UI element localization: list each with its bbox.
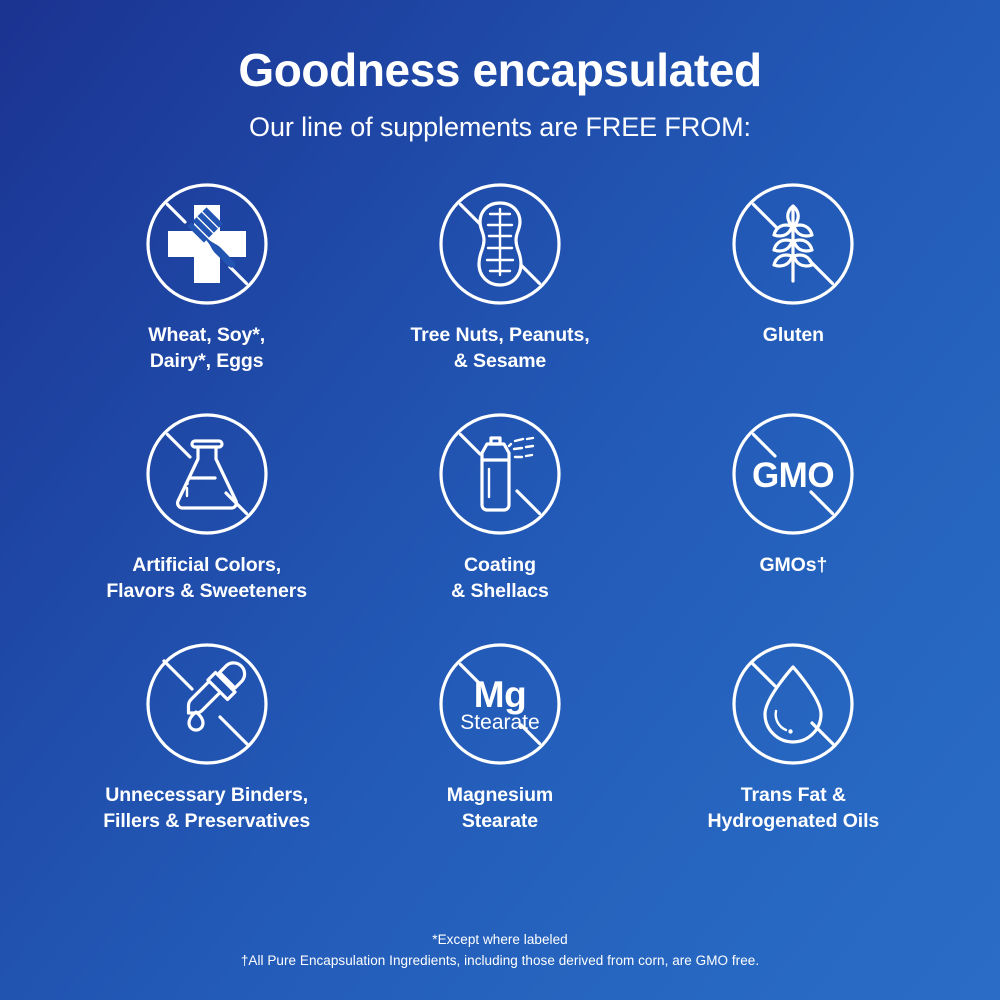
no-flask-icon xyxy=(142,409,272,539)
badge-label: Tree Nuts, Peanuts, & Sesame xyxy=(410,322,589,375)
no-dropper-icon xyxy=(142,639,272,769)
badge-label: Gluten xyxy=(763,322,824,348)
mg-icon-text: Mg xyxy=(474,674,526,715)
badge-label: Wheat, Soy*, Dairy*, Eggs xyxy=(148,322,265,375)
page-title: Goodness encapsulated xyxy=(238,46,761,96)
badge-gluten: Gluten xyxy=(658,179,928,409)
no-oil-droplet-icon xyxy=(728,639,858,769)
badge-label: GMOs† xyxy=(759,552,827,578)
stearate-icon-text: Stearate xyxy=(460,711,539,734)
badge-trans-fat: Trans Fat & Hydrogenated Oils xyxy=(658,639,928,869)
footnote-dagger: †All Pure Encapsulation Ingredients, inc… xyxy=(0,951,1000,972)
badge-label: Trans Fat & Hydrogenated Oils xyxy=(707,782,879,835)
badge-label: Unnecessary Binders, Fillers & Preservat… xyxy=(103,782,310,835)
no-peanut-icon xyxy=(435,179,565,309)
badge-label: Artificial Colors, Flavors & Sweeteners xyxy=(106,552,307,605)
badge-binders-fillers: Unnecessary Binders, Fillers & Preservat… xyxy=(72,639,342,869)
footnote-asterisk: *Except where labeled xyxy=(0,930,1000,951)
footnotes: *Except where labeled †All Pure Encapsul… xyxy=(0,930,1000,972)
no-gmo-icon: GMO xyxy=(728,409,858,539)
supplement-free-from-poster: Goodness encapsulated Our line of supple… xyxy=(0,0,1000,1000)
no-allergen-cross-fork-icon xyxy=(142,179,272,309)
badge-label: Coating & Shellacs xyxy=(451,552,549,605)
badge-magnesium-stearate: Mg Stearate Magnesium Stearate xyxy=(365,639,635,869)
page-subtitle: Our line of supplements are FREE FROM: xyxy=(238,112,761,143)
badge-label: Magnesium Stearate xyxy=(447,782,553,835)
badge-artificial-colors: Artificial Colors, Flavors & Sweeteners xyxy=(72,409,342,639)
no-spray-can-icon xyxy=(435,409,565,539)
badge-allergens: Wheat, Soy*, Dairy*, Eggs xyxy=(72,179,342,409)
no-wheat-stalk-icon xyxy=(728,179,858,309)
badge-coating-shellacs: Coating & Shellacs xyxy=(365,409,635,639)
badge-tree-nuts-peanuts: Tree Nuts, Peanuts, & Sesame xyxy=(365,179,635,409)
header: Goodness encapsulated Our line of supple… xyxy=(238,0,761,143)
gmo-icon-text: GMO xyxy=(752,456,834,495)
no-magnesium-stearate-icon: Mg Stearate xyxy=(435,639,565,769)
badge-gmos: GMO GMOs† xyxy=(658,409,928,639)
free-from-badge-grid: Wheat, Soy*, Dairy*, Eggs xyxy=(60,179,940,869)
